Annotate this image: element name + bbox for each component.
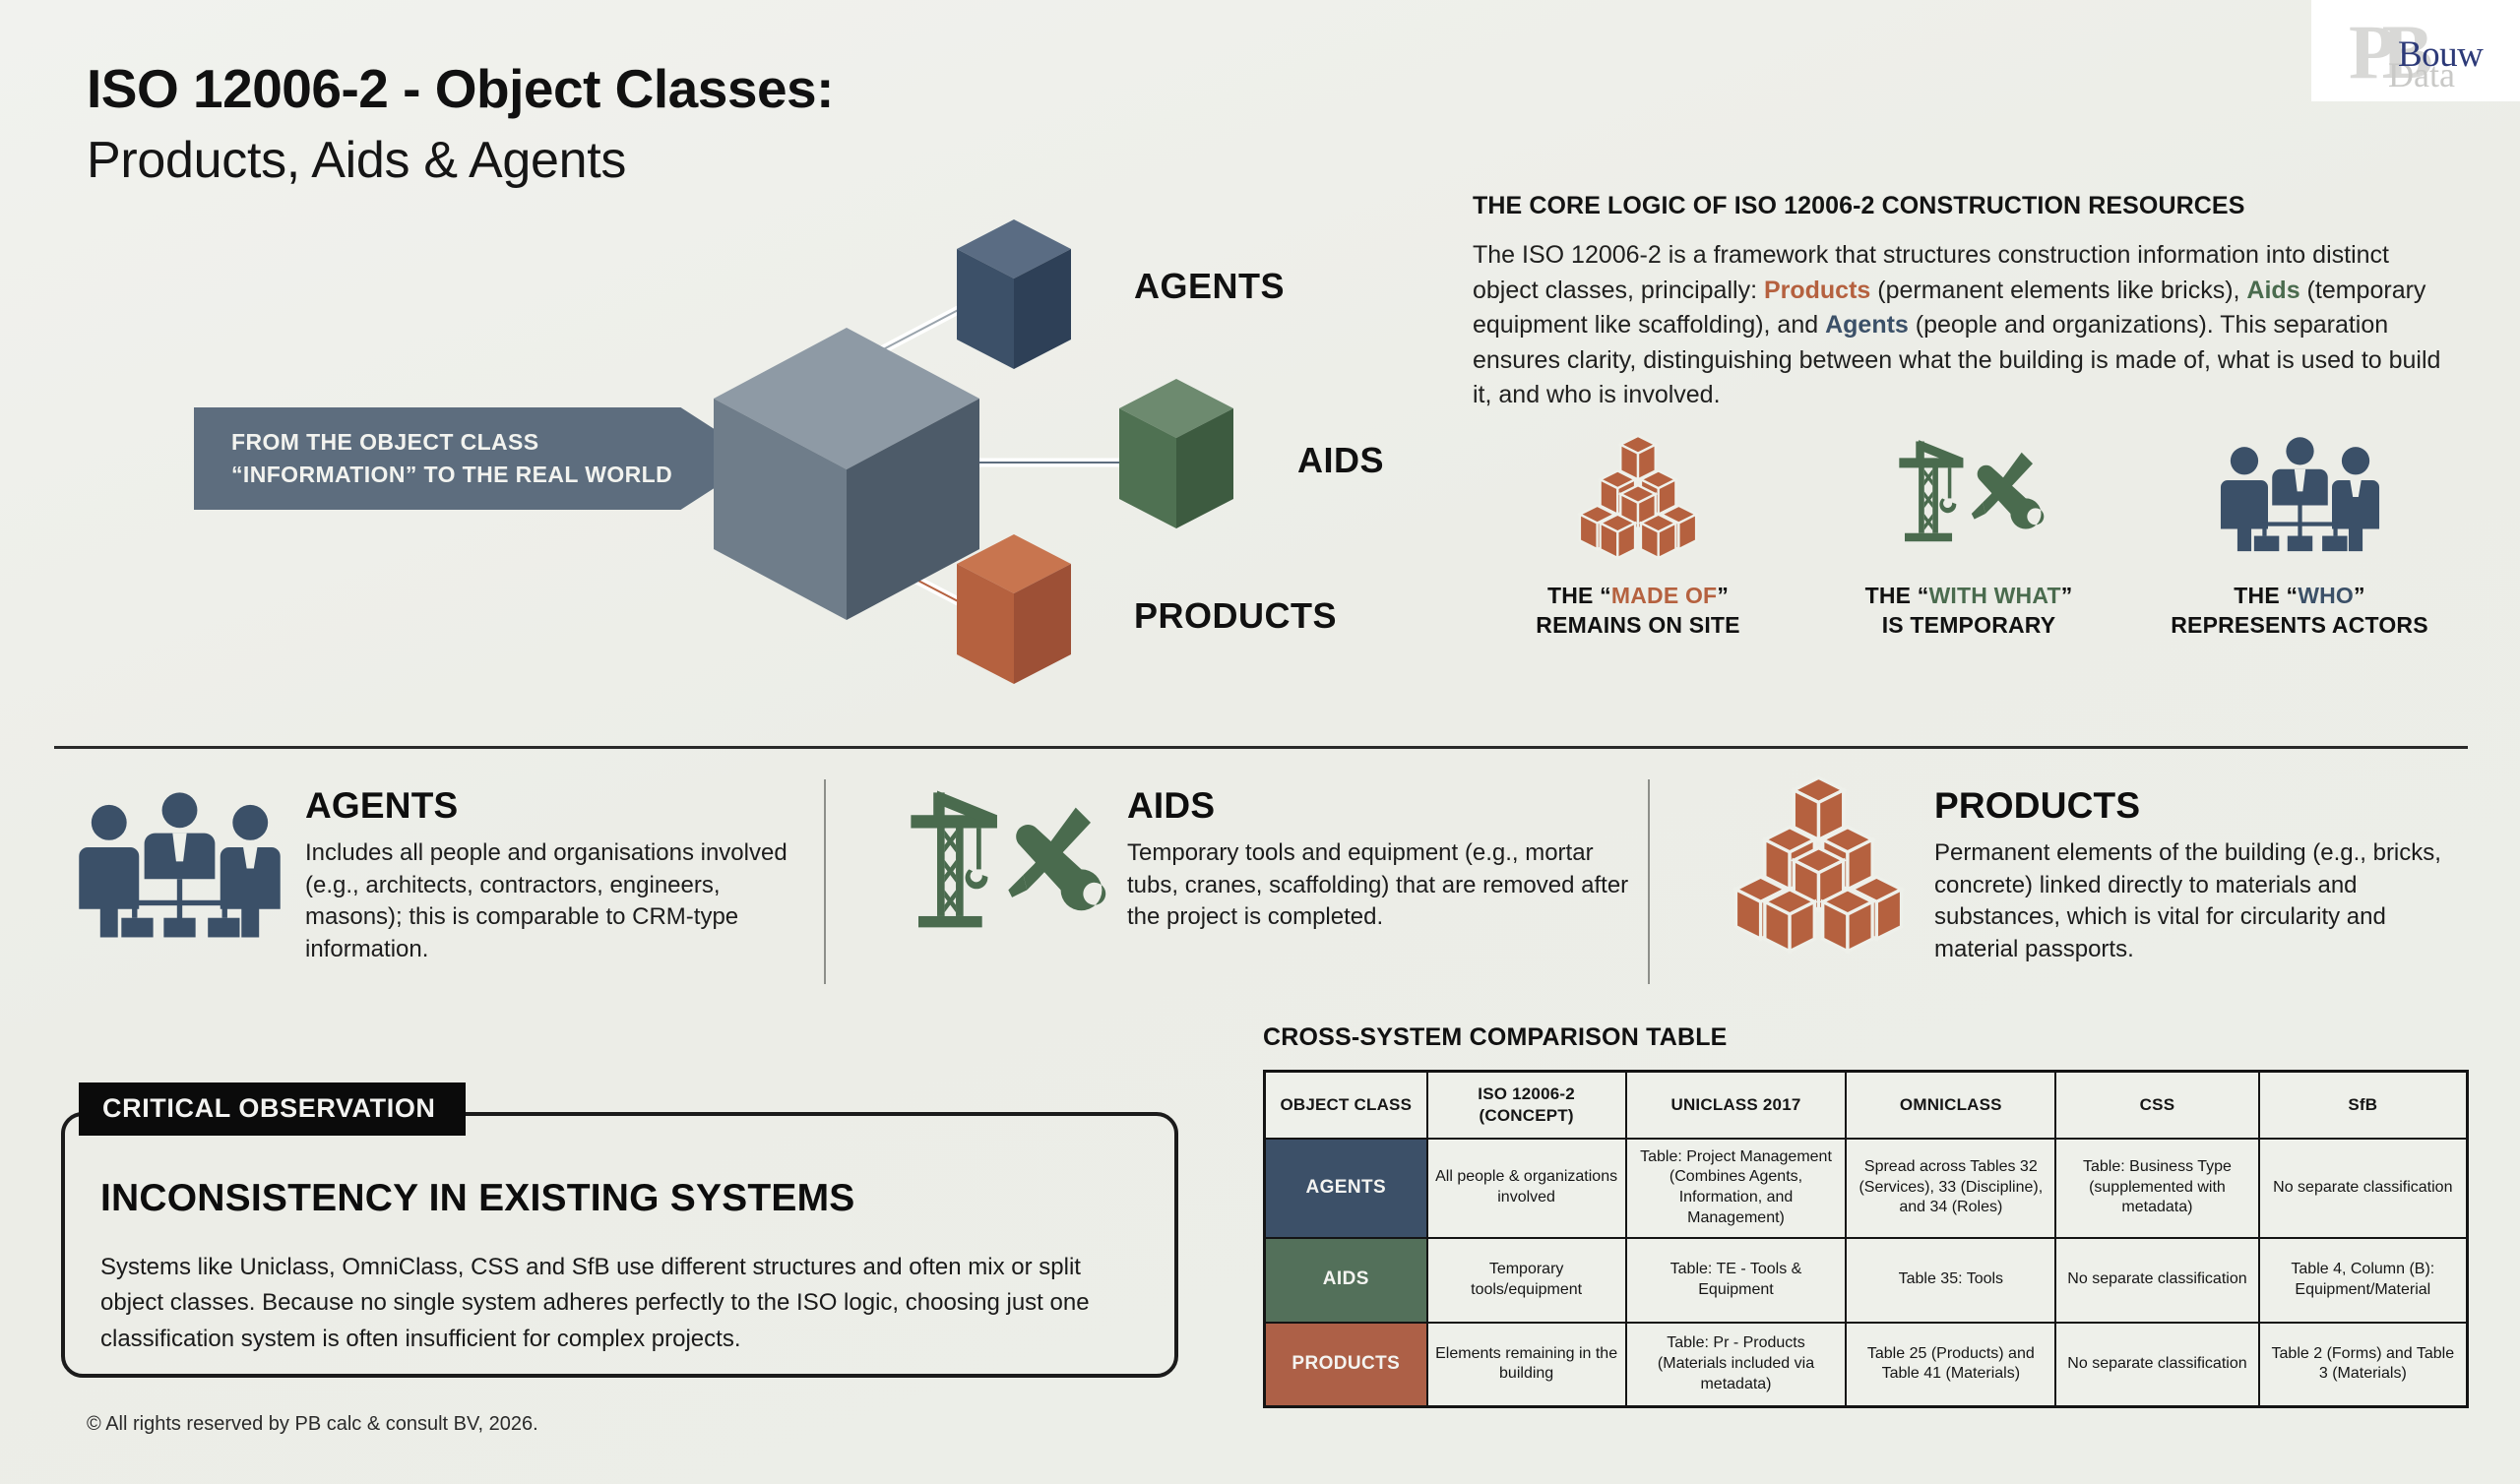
cell-products-sfb: Table 2 (Forms) and Table 3 (Materials)	[2259, 1323, 2468, 1407]
core-text-2: (permanent elements like bricks),	[1870, 277, 2246, 304]
table-header-row: OBJECT CLASS ISO 12006-2 (CONCEPT) UNICL…	[1265, 1072, 2468, 1139]
critical-observation-badge: CRITICAL OBSERVATION	[79, 1082, 466, 1136]
products-cube	[957, 534, 1071, 684]
trio-keyword-0: MADE OF	[1611, 583, 1717, 608]
table-row: AIDS Temporary tools/equipment Table: TE…	[1265, 1238, 2468, 1323]
title-subtitle: Products, Aids & Agents	[87, 132, 834, 191]
col-object-class: OBJECT CLASS	[1265, 1072, 1427, 1139]
agents-cube	[957, 219, 1071, 369]
label-aids: AIDS	[1297, 440, 1384, 481]
object-class-sections: AGENTS Includes all people and organisat…	[54, 773, 2471, 1010]
col-css: CSS	[2055, 1072, 2258, 1139]
cell-agents-uniclass: Table: Project Management (Combines Agen…	[1626, 1139, 1847, 1238]
cell-products-uniclass: Table: Pr - Products (Materials included…	[1626, 1323, 1847, 1407]
critical-observation-heading: INCONSISTENCY IN EXISTING SYSTEMS	[100, 1177, 1174, 1220]
cell-agents-iso: All people & organizations involved	[1427, 1139, 1626, 1238]
section-divider-vertical	[824, 779, 826, 984]
col-uniclass: UNICLASS 2017	[1626, 1072, 1847, 1139]
aids-cube	[1119, 379, 1233, 528]
bouwdata-logo: PB Data Bouw	[2311, 0, 2520, 101]
core-logic-paragraph: The ISO 12006-2 is a framework that stru…	[1473, 238, 2457, 413]
section-agents-body: Includes all people and organisations in…	[305, 837, 797, 966]
cell-aids-uniclass: Table: TE - Tools & Equipment	[1626, 1238, 1847, 1323]
brick-pyramid-icon	[1564, 433, 1712, 561]
cell-agents-sfb: No separate classification	[2259, 1139, 2468, 1238]
cell-agents-css: Table: Business Type (supplemented with …	[2055, 1139, 2258, 1238]
section-aids: AIDS Temporary tools and equipment (e.g.…	[842, 773, 1664, 1010]
row-label-products: PRODUCTS	[1265, 1323, 1427, 1407]
trio-caption-made-of: THE “MADE OF” REMAINS ON SITE	[1473, 582, 1803, 641]
section-products-body: Permanent elements of the building (e.g.…	[1934, 837, 2441, 966]
section-aids-title: AIDS	[1127, 787, 1639, 824]
critical-observation-panel: CRITICAL OBSERVATION INCONSISTENCY IN EX…	[61, 1112, 1178, 1378]
col-sfb: SfB	[2259, 1072, 2468, 1139]
trio-line2-0: REMAINS ON SITE	[1536, 612, 1739, 638]
table-row: PRODUCTS Elements remaining in the build…	[1265, 1323, 2468, 1407]
core-logic-icon-trio: THE “MADE OF” REMAINS ON SITE	[1473, 433, 2467, 641]
keyword-agents: Agents	[1825, 311, 1909, 339]
cross-system-comparison: CROSS-SYSTEM COMPARISON TABLE OBJECT CLA…	[1263, 1023, 2472, 1408]
core-logic-block: THE CORE LOGIC OF ISO 12006-2 CONSTRUCTI…	[1473, 192, 2457, 413]
isometric-cube-diagram: AGENTS AIDS PRODUCTS	[689, 212, 1457, 704]
trio-line2-1: IS TEMPORARY	[1882, 612, 2056, 638]
trio-pre-0: THE “	[1547, 583, 1611, 608]
core-logic-heading: THE CORE LOGIC OF ISO 12006-2 CONSTRUCTI…	[1473, 192, 2457, 220]
trio-caption-with-what: THE “WITH WHAT” IS TEMPORARY	[1803, 582, 2134, 641]
trio-post-2: ”	[2354, 583, 2365, 608]
section-products: PRODUCTS Permanent elements of the build…	[1664, 773, 2441, 1010]
cell-aids-omniclass: Table 35: Tools	[1846, 1238, 2055, 1323]
label-agents: AGENTS	[1134, 266, 1285, 307]
section-agents-title: AGENTS	[305, 787, 797, 824]
people-org-icon	[2214, 433, 2386, 561]
comparison-table-title: CROSS-SYSTEM COMPARISON TABLE	[1263, 1023, 2472, 1052]
people-org-icon	[69, 787, 290, 950]
critical-observation-body: Systems like Uniclass, OmniClass, CSS an…	[100, 1250, 1139, 1357]
trio-item-made-of: THE “MADE OF” REMAINS ON SITE	[1473, 433, 1803, 641]
title-main: ISO 12006-2 - Object Classes:	[87, 61, 834, 118]
trio-item-with-what: THE “WITH WHAT” IS TEMPORARY	[1803, 433, 2134, 641]
col-omniclass: OMNICLASS	[1846, 1072, 2055, 1139]
section-products-title: PRODUCTS	[1934, 787, 2441, 824]
cell-aids-css: No separate classification	[2055, 1238, 2258, 1323]
logo-bouw-word: Bouw	[2398, 33, 2483, 76]
row-label-agents: AGENTS	[1265, 1139, 1427, 1238]
keyword-aids: Aids	[2246, 277, 2299, 304]
trio-item-who: THE “WHO” REPRESENTS ACTORS	[2134, 433, 2465, 641]
cell-products-omniclass: Table 25 (Products) and Table 41 (Materi…	[1846, 1323, 2055, 1407]
main-object-class-cube	[714, 328, 979, 620]
page-title: ISO 12006-2 - Object Classes: Products, …	[87, 61, 834, 191]
section-aids-body: Temporary tools and equipment (e.g., mor…	[1127, 837, 1639, 934]
cell-aids-sfb: Table 4, Column (B): Equipment/Material	[2259, 1238, 2468, 1323]
trio-post-0: ”	[1717, 583, 1729, 608]
trio-keyword-2: WHO	[2298, 583, 2354, 608]
trio-post-1: ”	[2061, 583, 2073, 608]
keyword-products: Products	[1764, 277, 1870, 304]
cell-products-iso: Elements remaining in the building	[1427, 1323, 1626, 1407]
cell-aids-iso: Temporary tools/equipment	[1427, 1238, 1626, 1323]
object-class-arrow-banner: FROM THE OBJECT CLASS “INFORMATION” TO T…	[194, 407, 760, 510]
cell-agents-omniclass: Spread across Tables 32 (Services), 33 (…	[1846, 1139, 2055, 1238]
comparison-table: OBJECT CLASS ISO 12006-2 (CONCEPT) UNICL…	[1263, 1070, 2469, 1408]
label-products: PRODUCTS	[1134, 595, 1337, 637]
section-divider	[54, 746, 2468, 749]
brick-pyramid-icon	[1713, 773, 1924, 956]
trio-keyword-1: WITH WHAT	[1928, 583, 2060, 608]
trio-pre-2: THE “	[2234, 583, 2298, 608]
section-divider-vertical	[1648, 779, 1650, 984]
banner-line-2: “INFORMATION” TO THE REAL WORLD	[231, 459, 760, 491]
crane-tools-icon	[889, 781, 1120, 954]
crane-tools-icon	[1890, 433, 2047, 561]
critical-observation-badge-label: CRITICAL OBSERVATION	[102, 1093, 436, 1123]
section-agents: AGENTS Includes all people and organisat…	[54, 773, 842, 1010]
row-label-aids: AIDS	[1265, 1238, 1427, 1323]
cell-products-css: No separate classification	[2055, 1323, 2258, 1407]
infographic-page: ISO 12006-2 - Object Classes: Products, …	[0, 0, 2520, 1484]
banner-line-1: FROM THE OBJECT CLASS	[231, 426, 760, 459]
table-row: AGENTS All people & organizations involv…	[1265, 1139, 2468, 1238]
trio-caption-who: THE “WHO” REPRESENTS ACTORS	[2134, 582, 2465, 641]
footer-copyright: © All rights reserved by PB calc & consu…	[87, 1413, 538, 1436]
trio-pre-1: THE “	[1865, 583, 1929, 608]
trio-line2-2: REPRESENTS ACTORS	[2171, 612, 2428, 638]
col-iso: ISO 12006-2 (CONCEPT)	[1427, 1072, 1626, 1139]
